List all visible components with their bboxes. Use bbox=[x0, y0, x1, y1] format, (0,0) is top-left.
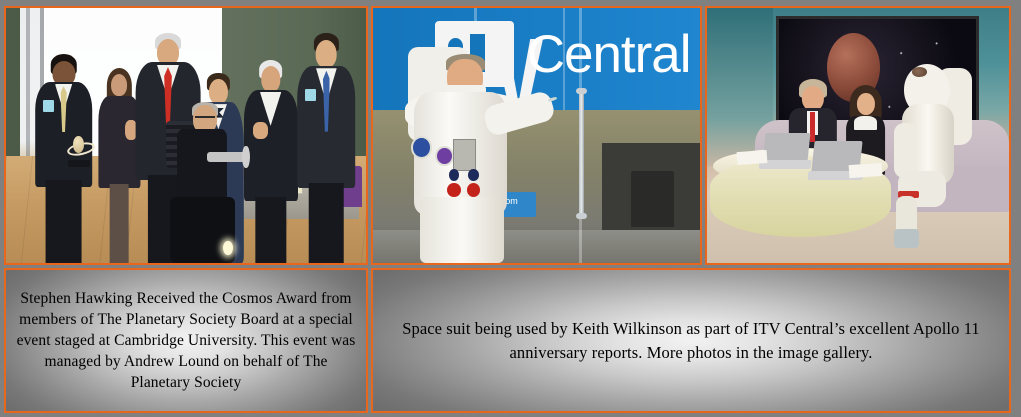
collar bbox=[854, 116, 878, 131]
desk-papers bbox=[849, 162, 883, 177]
suit-connector bbox=[449, 169, 460, 181]
wall-left bbox=[6, 8, 20, 156]
door-handle-rail bbox=[579, 92, 584, 214]
desk-papers bbox=[737, 150, 768, 165]
head bbox=[802, 86, 824, 110]
photo-spacesuit-scene: Central Crew Room ITV bbox=[373, 8, 700, 263]
head bbox=[209, 79, 227, 104]
photo-spacesuit-itv-central: Central Crew Room ITV bbox=[371, 6, 702, 265]
photo-hawking-scene bbox=[6, 8, 366, 263]
trophy-base bbox=[68, 160, 89, 167]
name-badge bbox=[43, 100, 55, 111]
caption-hawking-text: Stephen Hawking Received the Cosmos Awar… bbox=[6, 288, 366, 393]
suit-connector bbox=[447, 183, 461, 197]
suit-connector bbox=[468, 169, 479, 181]
suit-arm bbox=[894, 123, 917, 178]
name-badge bbox=[305, 89, 317, 101]
nasa-patch-icon bbox=[411, 136, 432, 159]
glasses-icon bbox=[195, 116, 215, 123]
dress bbox=[99, 96, 140, 188]
legs bbox=[110, 184, 129, 263]
caption-spacesuit-text: Space suit being used by Keith Wilkinson… bbox=[373, 317, 1009, 365]
suit-boot bbox=[894, 229, 919, 247]
helmet-visor-face bbox=[912, 67, 927, 77]
legs bbox=[45, 180, 82, 263]
legs bbox=[255, 197, 286, 263]
head bbox=[111, 74, 127, 96]
stephen-hawking-wheelchair bbox=[157, 105, 247, 263]
suit-legs bbox=[420, 197, 504, 263]
laptop bbox=[763, 133, 811, 161]
office-chair bbox=[631, 171, 674, 227]
head bbox=[316, 40, 337, 68]
person-in-space-suit-seated bbox=[894, 64, 991, 248]
person-blue-tie bbox=[298, 28, 356, 263]
caption-hawking: Stephen Hawking Received the Cosmos Awar… bbox=[4, 268, 368, 413]
legs bbox=[309, 183, 344, 263]
head bbox=[856, 93, 874, 115]
image-collage-page: Central Crew Room ITV bbox=[0, 0, 1021, 417]
chest-control-module bbox=[453, 139, 476, 171]
central-wordmark: Central bbox=[527, 28, 691, 81]
torso bbox=[177, 129, 227, 202]
clapping-hands bbox=[253, 122, 268, 139]
head bbox=[261, 66, 280, 92]
saturn-trophy-icon bbox=[67, 134, 91, 166]
photo-studio-scene bbox=[707, 8, 1009, 263]
photo-itv-studio-sofa bbox=[705, 6, 1011, 265]
wheelchair-arm-mount bbox=[207, 152, 248, 161]
photo-hawking-cosmos-award bbox=[4, 6, 368, 265]
saturn-planet bbox=[73, 136, 84, 153]
person-holding-trophy bbox=[35, 34, 93, 264]
wheelchair-light bbox=[223, 241, 233, 255]
red-tie bbox=[810, 112, 815, 141]
caption-spacesuit: Space suit being used by Keith Wilkinson… bbox=[371, 268, 1011, 413]
person-white-hair bbox=[244, 49, 298, 263]
person-in-space-suit-standing bbox=[399, 28, 549, 263]
